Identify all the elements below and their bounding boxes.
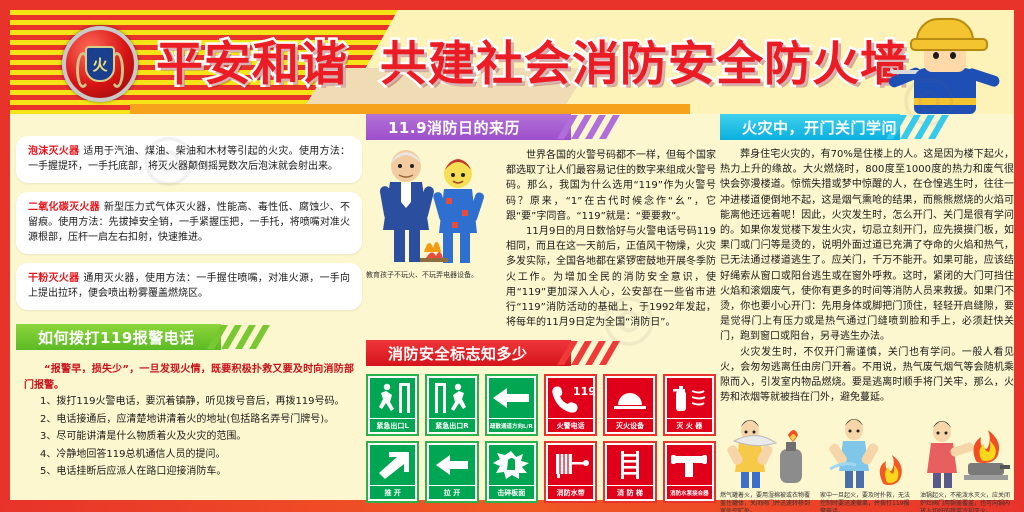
frame-left-border — [0, 0, 10, 512]
sign-label: 紧急出口R — [429, 419, 474, 432]
illustration-caption: 油锅起火，不能泼水灭火，应关闭炉灶阀门用锅盖覆盖，也可向锅内放入切好的蔬菜冷却灭… — [920, 492, 1014, 512]
svg-text:119: 119 — [573, 385, 593, 398]
call119-steps: 1、拨打119火警电话，要沉着镇静，听见拨号音后，再拨119号码。 2、电话接通… — [24, 395, 354, 479]
sign-label: 消 防 梯 — [607, 486, 652, 499]
column-origin-and-signs: 11.9消防日的来历 — [366, 114, 716, 500]
fire-safety-poster: 火 平安和谐 共建社会消防安全防火墙 泡沫灭火器适用于汽油、煤油、柴油和木材等引… — [0, 0, 1024, 512]
fire-pump-connector-icon — [667, 445, 712, 485]
running-man-left-icon — [370, 378, 415, 418]
sign-label: 消防水泵接合器 — [667, 486, 712, 499]
poster-title-sub: 共建社会消防安全防火墙 — [380, 38, 908, 92]
section-header-call119: 如何拨打119报警电话 — [16, 324, 362, 350]
break-glass-hand-icon — [489, 445, 534, 485]
door-paragraph-1: 葬身住宅火灾的，有70%是住楼上的人。这是因为楼下起火，热力上升的缘故。大火燃烧… — [720, 147, 1014, 345]
sign-label: 拉 开 — [429, 486, 474, 499]
section-header-signs: 消防安全标志知多少 — [366, 340, 716, 366]
origin-paragraph-2: 11月9日的月日数恰好与火警电话号码119相同，而且在这一天前后，正值风干物燥，… — [506, 224, 716, 330]
door-paragraph-2: 火灾发生时，不仅开门需谨慎，关门也有学问。一般人看见火，会匆匆逃离任由房门开着。… — [720, 345, 1014, 406]
fire-phone-119-icon: 119 — [548, 378, 593, 418]
origin-illustration-caption: 教育孩子不玩火、不玩弄电器设备。 — [366, 270, 498, 280]
sign-fire-alarm-phone[interactable]: 119 火警电话 — [544, 374, 597, 436]
call119-step: 5、电话挂断后应派人在路口迎接消防车。 — [24, 465, 354, 479]
sign-label: 消防水带 — [548, 486, 593, 499]
grandfather-and-child-icon — [366, 148, 498, 266]
sign-emergency-exit-left[interactable]: 紧急出口L — [366, 374, 419, 436]
term-co2-extinguisher: 二氧化碳灭火器 — [28, 202, 100, 213]
sign-fire-fighting-equipment[interactable]: 灭火设备 — [603, 374, 656, 436]
call119-body: “报警早，损失少”，一旦发现火情，既要积极扑救又要及时向消防部门报警。 1、拨打… — [16, 362, 362, 479]
poster-content: 泡沫灭火器适用于汽油、煤油、柴油和木材等引起的火灾。使用方法：一手握提环，一手托… — [10, 114, 1014, 500]
gas-cylinder-fire-art — [720, 415, 814, 489]
sign-label: 击碎板面 — [489, 486, 534, 499]
section-header-signs-slashes — [564, 340, 669, 366]
arrow-left-icon — [489, 378, 534, 418]
origin-text: 世界各国的火警号码都不一样，但每个国家都选取了让人们最容易记住的数字来组成火警号… — [506, 148, 716, 330]
section-header-door-label: 火灾中，开门关门学问 — [742, 117, 897, 138]
card-foam-extinguisher: 泡沫灭火器适用于汽油、煤油、柴油和木材等引起的火灾。使用方法：一手握提环，一手托… — [16, 136, 362, 183]
origin-article: 教育孩子不玩火、不玩弄电器设备。 世界各国的火警号码都不一样，但每个国家都选取了… — [366, 148, 716, 330]
illustration-gas-cylinder: 燃气罐着火，要用湿棉被或衣物覆盖住罐体，关闭阀门并迅速转移到室外空旷处。 — [720, 415, 814, 512]
illustration-caption: 燃气罐着火，要用湿棉被或衣物覆盖住罐体，关闭阀门并迅速转移到室外空旷处。 — [720, 492, 814, 512]
card-dry-powder-extinguisher: 干粉灭火器通用灭火器，使用方法：一手握住喷嘴，对准火源，一手向上提出拉环，便会喷… — [16, 263, 362, 310]
term-foam-extinguisher: 泡沫灭火器 — [28, 146, 79, 157]
origin-illustration-art — [366, 148, 498, 266]
poster-title-main: 平安和谐 — [156, 38, 348, 92]
section-header-origin: 11.9消防日的来历 — [366, 114, 716, 140]
sign-label: 推 开 — [370, 486, 415, 499]
poster-header: 火 平安和谐 共建社会消防安全防火墙 — [10, 10, 1014, 114]
mascot-helmet — [916, 18, 974, 44]
home-fire-art — [820, 415, 914, 489]
fire-ladder-icon — [607, 445, 652, 485]
fire-extinguisher-icon — [667, 378, 712, 418]
mascot-belt — [914, 98, 976, 105]
running-man-right-icon — [429, 378, 474, 418]
section-header-call119-slashes — [214, 324, 319, 350]
oil-pan-fire-art — [920, 415, 1014, 489]
door-knowledge-illustrations: 燃气罐着火，要用湿棉被或衣物覆盖住罐体，关闭阀门并迅速转移到室外空旷处。 — [720, 415, 1014, 512]
sign-label: 紧急出口L — [370, 419, 415, 432]
pull-arrow-icon — [429, 445, 474, 485]
safety-signs-grid: 紧急出口L 紧急出口R — [366, 374, 716, 503]
section-header-door-slashes — [893, 114, 998, 140]
mascot-eye-left — [933, 52, 939, 59]
section-header-door: 火灾中，开门关门学问 — [720, 114, 1014, 140]
call119-step: 4、冷静地回答119总机通信人员的提问。 — [24, 448, 354, 462]
sign-break-glass[interactable]: 击碎板面 — [485, 441, 538, 503]
illustration-caption: 家中一旦起火，要及时扑救，无法控制时要迅速撤离，并拨打119报警电话。 — [820, 492, 914, 512]
call119-step: 2、电话接通后，应清楚地讲清着火的地址(包括路名弄号门牌号)。 — [24, 413, 354, 427]
origin-illustration: 教育孩子不玩火、不玩弄电器设备。 — [366, 148, 498, 330]
sign-evacuation-direction[interactable]: 疏散通道方向L/R — [485, 374, 538, 436]
sign-fire-pump-connector[interactable]: 消防水泵接合器 — [663, 441, 716, 503]
section-header-origin-label: 11.9消防日的来历 — [388, 117, 520, 138]
fire-department-emblem-icon: 火 — [62, 26, 138, 102]
term-dry-powder-extinguisher: 干粉灭火器 — [28, 273, 79, 284]
push-arrow-icon — [370, 445, 415, 485]
frame-right-border — [1014, 0, 1024, 512]
header-orange-bar — [130, 104, 690, 114]
mascot-eye-right — [950, 52, 956, 59]
card-co2-extinguisher: 二氧化碳灭火器新型压力式气体灭火器，性能高、毒性低、腐蚀少、不留痕。使用方法：先… — [16, 192, 362, 254]
firefighter-mascot-icon — [890, 16, 1000, 114]
origin-paragraph-1: 世界各国的火警号码都不一样，但每个国家都选取了让人们最容易记住的数字来组成火警号… — [506, 148, 716, 224]
illustration-oil-pan-fire: 油锅起火，不能泼水灭火，应关闭炉灶阀门用锅盖覆盖，也可向锅内放入切好的蔬菜冷却灭… — [920, 415, 1014, 512]
sign-push-to-open[interactable]: 推 开 — [366, 441, 419, 503]
frame-top-border — [0, 0, 1024, 10]
column-extinguishers: 泡沫灭火器适用于汽油、煤油、柴油和木材等引起的火灾。使用方法：一手握提环，一手托… — [16, 114, 362, 500]
section-header-origin-slashes — [564, 114, 669, 140]
illustration-home-fire: 家中一旦起火，要及时扑救，无法控制时要迅速撤离，并拨打119报警电话。 — [820, 415, 914, 512]
sign-fire-ladder[interactable]: 消 防 梯 — [603, 441, 656, 503]
fire-equipment-icon — [607, 378, 652, 418]
emblem-shield: 火 — [85, 46, 115, 82]
section-header-signs-label: 消防安全标志知多少 — [388, 343, 528, 364]
call119-step: 1、拨打119火警电话，要沉着镇静，听见拨号音后，再拨119号码。 — [24, 395, 354, 409]
sign-pull-to-open[interactable]: 拉 开 — [425, 441, 478, 503]
sign-label: 灭 火 器 — [667, 419, 712, 432]
fire-hose-reel-icon — [548, 445, 593, 485]
call119-step: 3、尽可能讲清是什么物质着火及火灾的范围。 — [24, 430, 354, 444]
sign-label: 疏散通道方向L/R — [489, 419, 534, 432]
sign-fire-extinguisher[interactable]: 灭 火 器 — [663, 374, 716, 436]
sign-label: 火警电话 — [548, 419, 593, 432]
door-knowledge-text: 葬身住宅火灾的，有70%是住楼上的人。这是因为楼下起火，热力上升的缘故。大火燃烧… — [720, 147, 1014, 405]
column-door-knowledge: 火灾中，开门关门学问 葬身住宅火灾的，有70%是住楼上的人。这是因为楼下起火，热… — [720, 114, 1014, 500]
call119-lead: “报警早，损失少”，一旦发现火情，既要积极扑救又要及时向消防部门报警。 — [24, 362, 354, 393]
sign-emergency-exit-right[interactable]: 紧急出口R — [425, 374, 478, 436]
sign-fire-hose[interactable]: 消防水带 — [544, 441, 597, 503]
sign-label: 灭火设备 — [607, 419, 652, 432]
section-header-call119-label: 如何拨打119报警电话 — [38, 327, 195, 348]
